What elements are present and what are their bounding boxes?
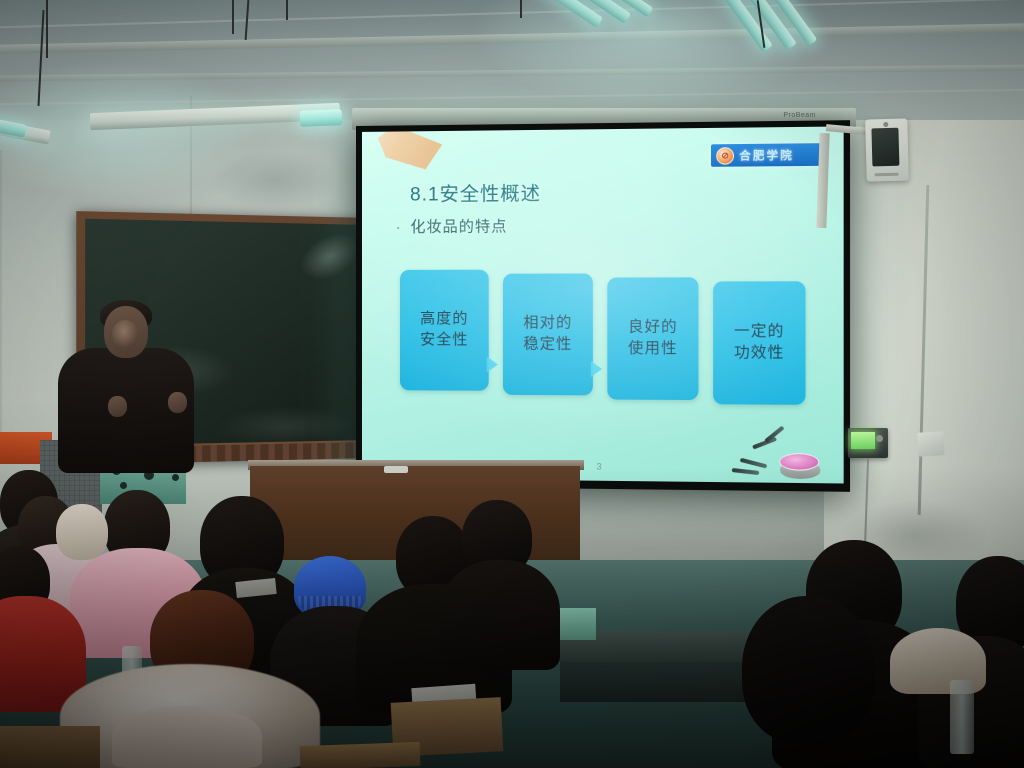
water-bottle (950, 680, 974, 754)
feature-box-1-line1: 高度的 (420, 309, 468, 330)
speaker-slot-icon (875, 173, 899, 177)
projection-screen: ⊘ 合肥学院 8.1安全性概述 ·化妆品的特点 高度的 安全性 相对的 稳定性 (356, 120, 850, 492)
slide-decoration-brush-icon (378, 126, 442, 169)
feature-box-2-line2: 稳定性 (523, 334, 572, 355)
bullet-label: 化妆品的特点 (410, 218, 507, 236)
student-hood (56, 504, 108, 560)
feature-box-2-line1: 相对的 (523, 313, 572, 334)
feature-box-1-line2: 安全性 (420, 330, 468, 351)
classroom-photo: ProBeam ⊘ 合肥学院 8.1安全性概述 ·化妆品的特点 高度的 安全性 … (0, 0, 1024, 768)
light-suspension-rod (520, 0, 522, 18)
slide-logo: ⊘ 合肥学院 (711, 143, 820, 167)
student-head (742, 596, 874, 744)
student-desk (300, 742, 421, 768)
slide-page-number: 3 (596, 461, 601, 471)
control-panel-screen (851, 432, 875, 449)
wall-socket (917, 431, 944, 456)
speaker-grille-icon (871, 128, 899, 167)
feature-box-3-line1: 良好的 (628, 318, 678, 339)
wall-speaker (865, 118, 909, 181)
logo-emblem-icon: ⊘ (716, 147, 734, 165)
light-suspension-rod (46, 0, 48, 58)
platform-clip (384, 466, 408, 473)
wall-stain (210, 150, 340, 210)
presentation-slide: ⊘ 合肥学院 8.1安全性概述 ·化妆品的特点 高度的 安全性 相对的 稳定性 (362, 126, 844, 483)
bullet-marker-icon: · (396, 220, 401, 235)
lecturer-hand (108, 396, 127, 417)
arrow-right-icon (591, 361, 602, 377)
screen-brand-label: ProBeam (783, 112, 816, 119)
feature-box-4-line1: 一定的 (734, 322, 784, 343)
light-suspension-rod (286, 0, 288, 20)
lecturer (52, 300, 202, 470)
light-suspension-rod (232, 0, 234, 34)
ceiling-light-tube (300, 109, 343, 127)
feature-box-4-line2: 功效性 (734, 343, 784, 364)
student-fur-hood-inner (112, 706, 262, 768)
feature-box-2: 相对的 稳定性 (503, 274, 593, 396)
feature-box-4: 一定的 功效性 (713, 281, 805, 405)
slide-title: 8.1安全性概述 (410, 178, 541, 206)
control-panel-button[interactable] (876, 435, 883, 442)
logo-text: 合肥学院 (739, 147, 794, 164)
lecturer-hand (168, 392, 187, 413)
av-control-panel[interactable] (848, 428, 888, 458)
slide-feature-boxes: 高度的 安全性 相对的 稳定性 良好的 使用性 一定的 功效性 (400, 269, 812, 403)
student-desk (0, 726, 100, 768)
student-torso (440, 560, 560, 670)
feature-box-3-line2: 使用性 (628, 339, 678, 360)
side-desk (556, 608, 596, 640)
speaker-knob-icon (883, 122, 888, 127)
slide-bullet-item: ·化妆品的特点 (396, 215, 507, 237)
slide-decoration-compact-icon (759, 441, 820, 479)
feature-box-3: 良好的 使用性 (607, 277, 698, 400)
arrow-right-icon (487, 356, 498, 372)
feature-box-1: 高度的 安全性 (400, 270, 489, 391)
wall-seam (0, 150, 2, 440)
